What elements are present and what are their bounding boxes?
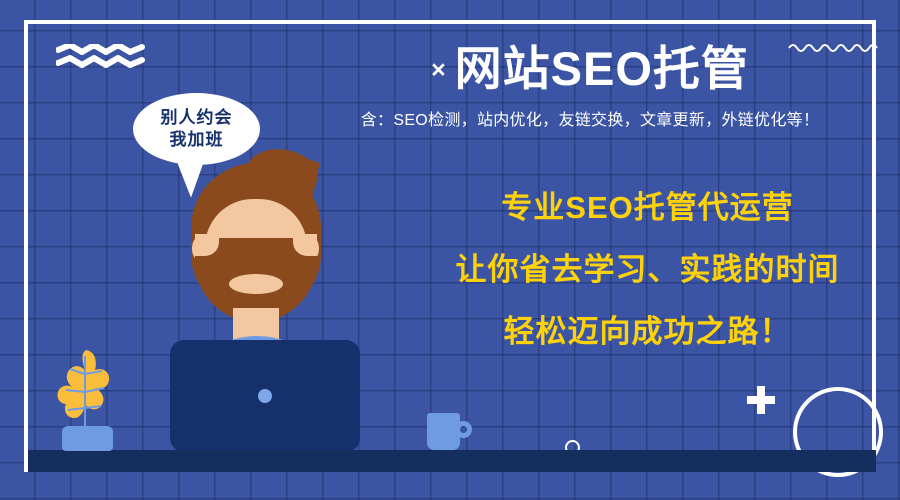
plant-illustration [50, 348, 120, 452]
selling-points-block: 专业SEO托管代运营 让你省去学习、实践的时间 轻松迈向成功之路！ [415, 192, 880, 347]
desk-surface [28, 450, 876, 472]
page-title: ×网站SEO托管 [300, 44, 880, 93]
title-bullet-mark: × [431, 56, 447, 84]
laptop-logo-dot-icon [258, 389, 272, 403]
selling-point-3: 轻松迈向成功之路！ [415, 316, 880, 347]
plant-pot [62, 426, 113, 451]
speech-bubble-line-1: 别人约会 [161, 107, 233, 129]
seo-hosting-banner: ×网站SEO托管 含：SEO检测，站内优化，友链交换，文章更新，外链优化等！ 专… [0, 0, 900, 500]
selling-point-2: 让你省去学习、实践的时间 [415, 254, 880, 285]
leaf-icon [56, 348, 116, 432]
selling-point-1: 专业SEO托管代运营 [415, 192, 880, 223]
mug-handle-icon [455, 421, 472, 438]
title-text: 网站SEO托管 [455, 42, 749, 95]
wave-thick-icon [56, 44, 148, 70]
speech-bubble-line-2: 我加班 [170, 129, 224, 151]
plus-icon [747, 386, 775, 414]
mouth-icon [229, 274, 283, 294]
page-subtitle: 含：SEO检测，站内优化，友链交换，文章更新，外链优化等！ [300, 106, 880, 130]
headline-block: ×网站SEO托管 含：SEO检测，站内优化，友链交换，文章更新，外链优化等！ [300, 44, 880, 130]
